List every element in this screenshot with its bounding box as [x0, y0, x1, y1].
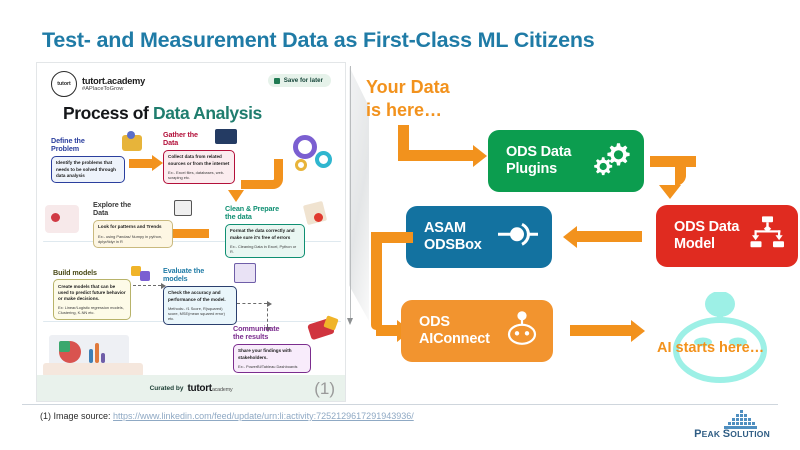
atom-chart-icon: [45, 205, 79, 233]
step-communicate-the-results: Communicate the results Share your findi…: [233, 325, 311, 373]
node-ods-data-plugins[interactable]: ODS Data Plugins: [488, 130, 644, 192]
step-body-box: Format the data correctly and make sure …: [225, 224, 305, 258]
footnote: (1) Image source: https://www.linkedin.c…: [40, 411, 414, 421]
gears-icon: [594, 141, 630, 180]
arrow-yourdata-to-plugins: [404, 150, 474, 161]
step-body: Format the data correctly and make sure …: [230, 228, 300, 240]
arrow-aiconnect-to-ai: [570, 325, 632, 336]
step-example: Methods:- f1 Score, R(squared) score, MS…: [168, 306, 232, 321]
step-example: Ex:- PowerBI/Tableau Dashboards: [238, 364, 306, 369]
gear-decoration-2: [315, 151, 332, 168]
bar-1-icon: [89, 349, 93, 363]
step-body: Look for patterns and Trends: [98, 224, 168, 230]
infographic-card: tutort tutort.academy #APlaceToGrow Save…: [36, 62, 346, 402]
arrow-odsbox-to-aiconnect: [376, 325, 398, 336]
hierarchy-icon: [750, 216, 784, 255]
step-explore-the-data: Explore the Data Look for patterns and T…: [93, 201, 173, 248]
step-title: Communicate the results: [233, 325, 311, 342]
step-body-box: Identify the problems that needs to be s…: [51, 156, 125, 183]
step-title: Evaluate the models: [163, 267, 237, 284]
arrow-model-to-odsbox: [576, 231, 642, 242]
step-body-box: Create models that can be used to predic…: [53, 279, 131, 319]
step-title: Clean & Prepare the data: [225, 205, 305, 222]
peak-solution-logo: PEAK SOLUTION: [682, 406, 782, 446]
your-data-label: Your Data is here…: [366, 76, 450, 121]
pie-slice-icon: [59, 341, 70, 352]
puzzle-piece-2-icon: [140, 271, 150, 281]
curated-brand: tutortacademy: [188, 383, 233, 394]
step-body: Collect data from related sources or fro…: [168, 154, 230, 166]
step-title: Explore the Data: [93, 201, 173, 218]
gear-decoration-1: [293, 135, 317, 159]
connector-icon: [498, 221, 538, 252]
tutort-brand-name: tutort.academy: [82, 76, 145, 87]
flow-arrow-4: [133, 285, 161, 286]
flow-arrow-5a: [237, 303, 267, 304]
step-body-box: Look for patterns and Trends Ex:- using …: [93, 220, 173, 248]
step-body: Check the accuracy and performance of th…: [168, 290, 232, 302]
step-clean-and-prepare-the-data: Clean & Prepare the data Format the data…: [225, 205, 305, 258]
node-ods-data-plugins-label: ODS Data Plugins: [506, 144, 571, 179]
node-asam-odsbox-label: ASAM ODSBox: [424, 220, 482, 255]
bar-3-icon: [101, 353, 105, 363]
curated-by-bar: Curated by tutortacademy: [37, 375, 345, 401]
save-for-later-button[interactable]: Save for later: [268, 74, 331, 87]
tutort-logo-icon: tutort: [51, 71, 77, 97]
logo-word2-rest: OLUTION: [730, 429, 770, 439]
person-head-icon: [127, 131, 135, 139]
robot-icon: [505, 310, 539, 351]
node-ods-aiconnect-label: ODS AIConnect: [419, 314, 490, 349]
infographic-heading-part1: Process of: [63, 103, 153, 123]
logo-word1: P: [694, 428, 702, 440]
bookmark-icon: [274, 78, 280, 84]
step-title: Build models: [53, 269, 131, 277]
page-title: Test- and Measurement Data as First-Clas…: [42, 28, 595, 53]
peak-solution-wordmark: PEAK SOLUTION: [682, 428, 782, 440]
footnote-prefix: (1) Image source:: [40, 411, 113, 421]
gear-decoration-3: [295, 159, 307, 171]
step-body-box: Check the accuracy and performance of th…: [163, 286, 237, 325]
laptop-icon: [215, 129, 237, 144]
step-example: Ex:- Excel files, databases, web-scrapin…: [168, 170, 230, 180]
node-ods-data-model[interactable]: ODS Data Model: [656, 205, 798, 267]
step-example: Ex:- Cleaning Data in Excel, Python or R…: [230, 244, 300, 254]
step-define-the-problem: Define the Problem Identify the problems…: [51, 137, 125, 183]
curated-brand-name: tutort: [188, 383, 212, 394]
ai-starts-here-label: AI starts here…: [657, 340, 764, 356]
arrow-plugins-to-model: [675, 156, 686, 186]
step-title: Define the Problem: [51, 137, 125, 154]
footnote-link[interactable]: https://www.linkedin.com/feed/update/urn…: [113, 411, 414, 421]
step-body: Identify the problems that needs to be s…: [56, 160, 120, 178]
atom-node-icon: [51, 213, 60, 222]
footer-divider: [22, 404, 778, 405]
node-ods-aiconnect[interactable]: ODS AIConnect: [401, 300, 553, 362]
save-for-later-label: Save for later: [284, 77, 323, 84]
arrow-plugins-horizontal: [650, 156, 696, 167]
node-asam-odsbox[interactable]: ASAM ODSBox: [406, 206, 552, 268]
step-body: Create models that can be used to predic…: [58, 284, 126, 302]
step-body: Share your findings with stakeholders.: [238, 348, 306, 360]
step-body-box: Share your findings with stakeholders. E…: [233, 344, 311, 373]
logo-word1-rest: EAK: [702, 429, 723, 439]
curated-brand-suffix: academy: [212, 387, 233, 393]
infographic-heading: Process of Data Analysis: [63, 103, 262, 124]
arrow-odsbox-vertical: [371, 232, 382, 330]
tutort-brand-header: tutort tutort.academy #APlaceToGrow: [51, 71, 145, 97]
check-badge-icon: [314, 213, 323, 222]
step-example: Ex: Linear/Logistic regression models, C…: [58, 305, 126, 315]
curated-by-label: Curated by: [150, 385, 184, 392]
infographic-heading-part2: Data Analysis: [153, 103, 262, 123]
clipboard-chart-icon: [234, 263, 256, 283]
table-grid-icon: [174, 200, 192, 216]
bar-2-icon: [95, 343, 99, 363]
tutort-brand-tagline: #APlaceToGrow: [82, 86, 145, 92]
slide-canvas: Test- and Measurement Data as First-Clas…: [0, 0, 800, 450]
node-ods-data-model-label: ODS Data Model: [674, 219, 739, 254]
footnote-marker: (1): [314, 379, 335, 399]
step-body-box: Collect data from related sources or fro…: [163, 150, 235, 184]
flow-arrow-1: [129, 159, 153, 168]
step-build-models: Build models Create models that can be u…: [53, 269, 131, 320]
step-example: Ex:- using Pandas/ Numpy in python, dply…: [98, 234, 168, 244]
step-evaluate-the-models: Evaluate the models Check the accuracy a…: [163, 267, 237, 325]
flow-arrow-2: [241, 159, 283, 189]
vertical-flow-line: [350, 66, 351, 318]
